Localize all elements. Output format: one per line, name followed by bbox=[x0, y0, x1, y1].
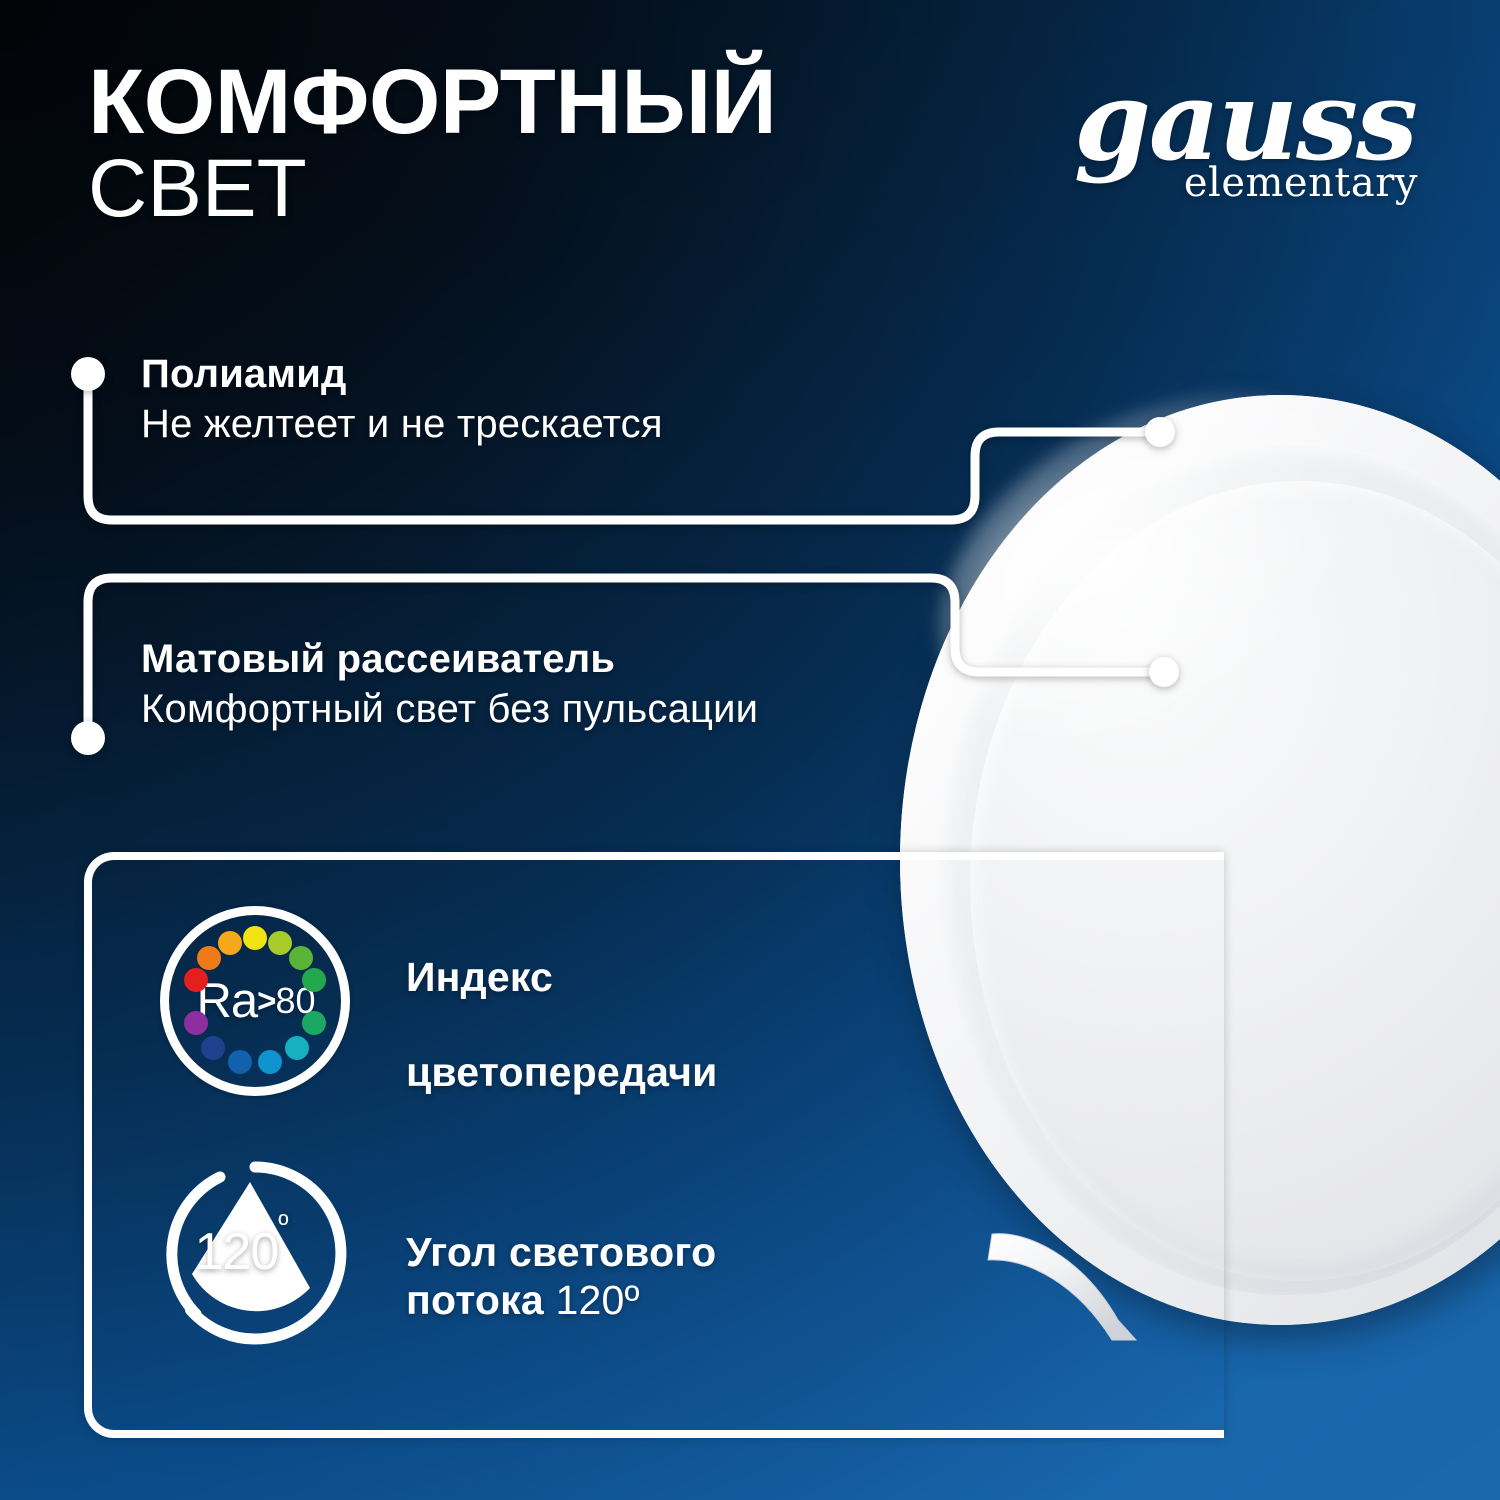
callout-polyamide-description: Не желтеет и не трескается bbox=[141, 401, 1001, 447]
cri-color-dot bbox=[289, 946, 313, 970]
beam-angle-badge-icon: 120º bbox=[160, 1158, 350, 1348]
cri-color-dot bbox=[243, 926, 267, 950]
brand-logo: gauss elementary bbox=[1022, 74, 1422, 244]
callout-diffuser-description: Комфортный свет без пульсации bbox=[141, 686, 1021, 732]
page-title: КОМФОРТНЫЙ СВЕТ bbox=[88, 58, 988, 230]
spec-label-beam-angle: Угол светового потока 120º bbox=[406, 1182, 716, 1325]
callout-diffuser-title: Матовый рассеиватель bbox=[141, 637, 1021, 682]
cri-badge-icon: Ra>80 bbox=[160, 906, 350, 1096]
cri-color-dot bbox=[184, 1011, 208, 1035]
spec-label-cri-line-1: Индекс bbox=[406, 954, 553, 1000]
spec-label-cri-line-2: цветопередачи bbox=[406, 1049, 718, 1095]
cri-color-dot bbox=[302, 1011, 326, 1035]
cri-color-dot bbox=[268, 931, 292, 955]
spec-label-cri: Индекс цветопередачи bbox=[406, 906, 718, 1096]
spec-row-beam-angle: 120º Угол светового потока 120º bbox=[160, 1158, 716, 1348]
cri-color-dot bbox=[228, 1050, 252, 1074]
cri-color-dot bbox=[302, 968, 326, 992]
callout-polyamide-title: Полиамид bbox=[141, 352, 1001, 397]
beam-angle-badge-label: 120º bbox=[166, 1222, 316, 1282]
callout-polyamide: Полиамид Не желтеет и не трескается bbox=[141, 352, 1001, 447]
headline-line-1: КОМФОРТНЫЙ bbox=[88, 58, 988, 146]
headline-line-2: СВЕТ bbox=[88, 148, 988, 230]
spec-row-color-rendering-index: Ra>80 Индекс цветопередачи bbox=[160, 906, 718, 1096]
callout-diffuser: Матовый рассеиватель Комфортный свет без… bbox=[141, 637, 1021, 732]
brand-logo-wordmark: gauss bbox=[1022, 74, 1422, 169]
beam-angle-badge-value: 120 bbox=[195, 1223, 279, 1281]
cri-color-dot bbox=[184, 968, 208, 992]
product-infographic: КОМФОРТНЫЙ СВЕТ gauss elementary Полиами… bbox=[0, 0, 1500, 1500]
cri-color-dot bbox=[197, 946, 221, 970]
beam-angle-badge-unit: º bbox=[278, 1209, 287, 1240]
specifications-panel: Ra>80 Индекс цветопередачи 120º bbox=[84, 852, 1224, 1438]
cri-badge-greater-than: > bbox=[257, 982, 275, 1020]
spec-label-beam-angle-value: 120º bbox=[556, 1277, 640, 1323]
cri-color-dot bbox=[201, 1036, 225, 1060]
cri-color-dot bbox=[285, 1036, 309, 1060]
